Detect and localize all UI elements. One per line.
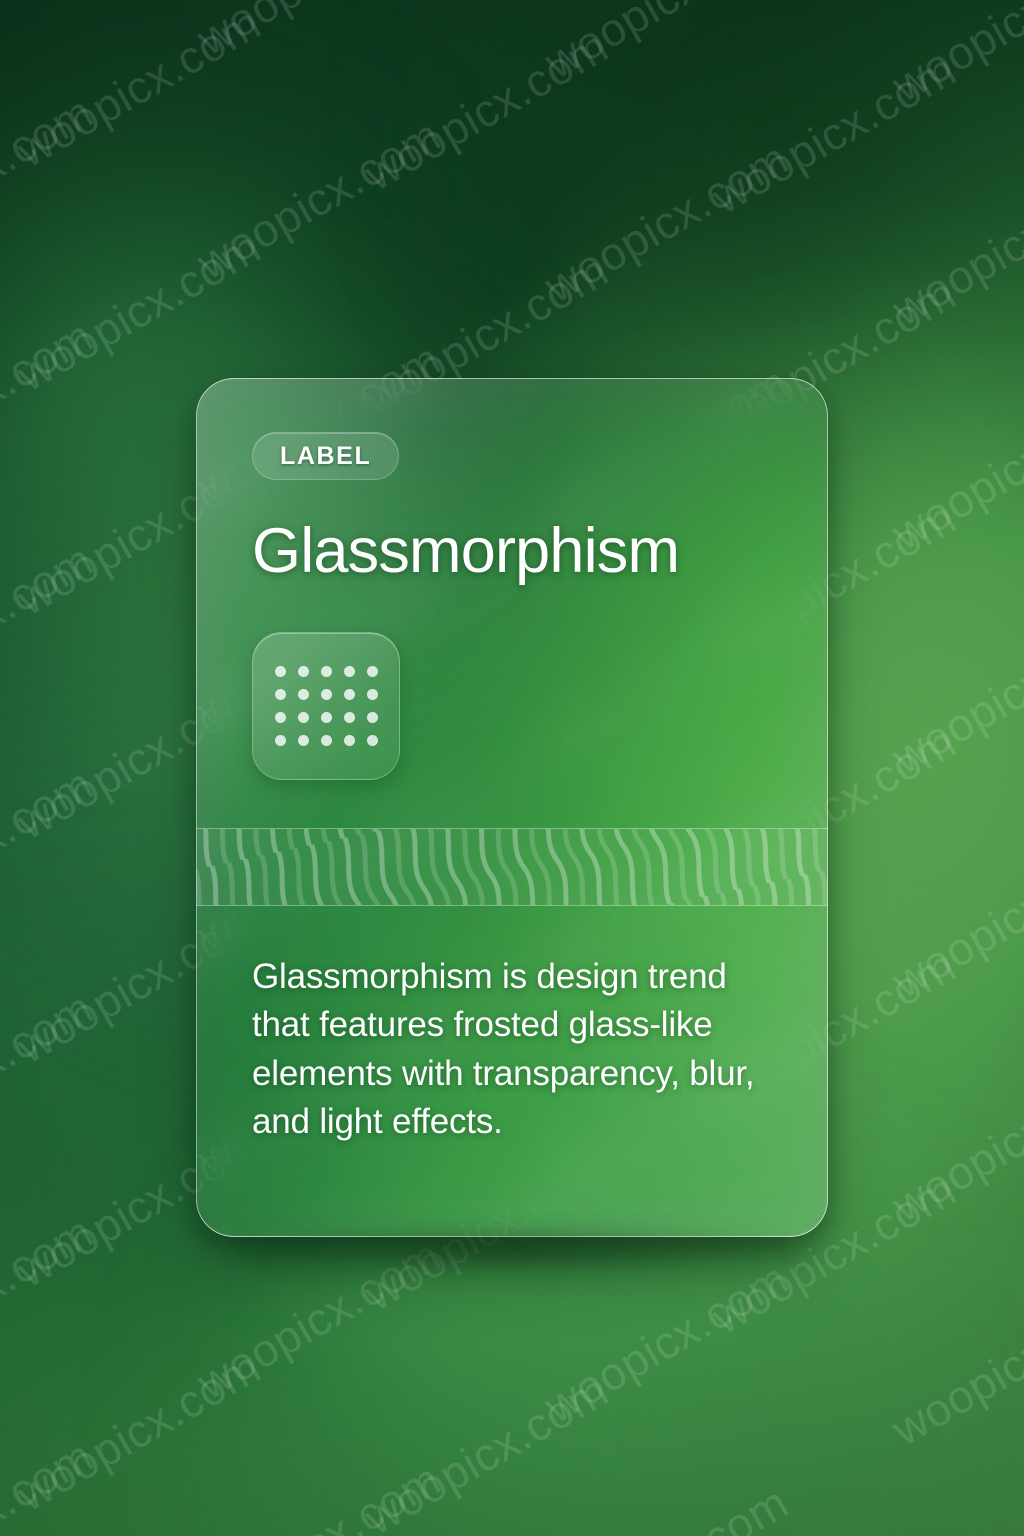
dot bbox=[344, 689, 355, 700]
dot bbox=[321, 666, 332, 677]
dot bbox=[344, 735, 355, 746]
card-header-section: LABEL Glassmorphism bbox=[196, 378, 828, 780]
dot-grid-dots bbox=[275, 666, 378, 746]
dot-grid-icon[interactable] bbox=[252, 632, 400, 780]
dot bbox=[367, 735, 378, 746]
dot bbox=[367, 712, 378, 723]
dot bbox=[321, 712, 332, 723]
dot bbox=[298, 666, 309, 677]
dot bbox=[344, 712, 355, 723]
dot bbox=[367, 689, 378, 700]
label-badge[interactable]: LABEL bbox=[252, 432, 399, 480]
dot bbox=[275, 666, 286, 677]
dot bbox=[298, 712, 309, 723]
dot bbox=[298, 735, 309, 746]
card-description: Glassmorphism is design trend that featu… bbox=[252, 953, 778, 1146]
glass-card: LABEL Glassmorphism Glassmorphism is des… bbox=[196, 378, 828, 1237]
dot bbox=[275, 689, 286, 700]
card-title: Glassmorphism bbox=[252, 518, 772, 584]
dot bbox=[275, 712, 286, 723]
dot bbox=[321, 689, 332, 700]
dot bbox=[367, 666, 378, 677]
label-badge-text: LABEL bbox=[280, 442, 371, 471]
wavy-stripe-divider bbox=[196, 828, 828, 906]
dot bbox=[275, 735, 286, 746]
dot bbox=[344, 666, 355, 677]
dot bbox=[298, 689, 309, 700]
dot bbox=[321, 735, 332, 746]
card-drop-shadow bbox=[212, 1236, 822, 1294]
